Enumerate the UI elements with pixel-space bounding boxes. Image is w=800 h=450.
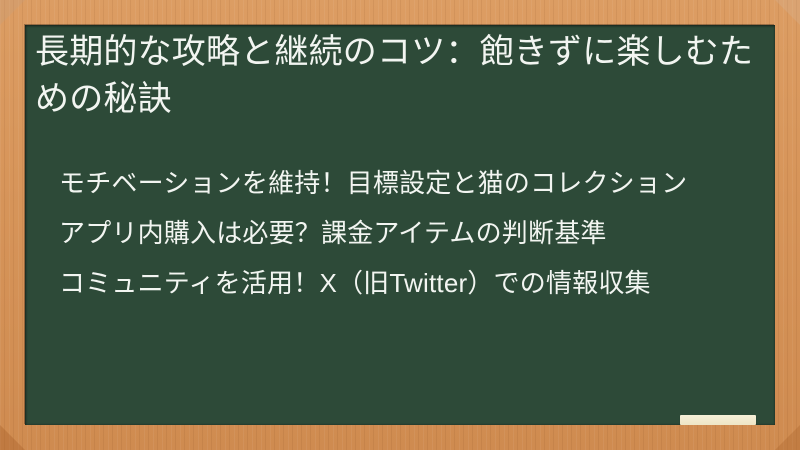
chalk-stick-icon	[680, 415, 756, 425]
frame-corner-bottom-right	[775, 425, 800, 450]
frame-corner-top-right-2	[775, 0, 800, 25]
frame-corner-top-left	[0, 0, 25, 25]
frame-corner-bottom-left-2	[0, 425, 25, 450]
chalkboard-surface: 長期的な攻略と継続のコツ：飽きずに楽しむための秘訣 モチベーションを維持！目標設…	[25, 25, 775, 425]
page-title: 長期的な攻略と継続のコツ：飽きずに楽しむための秘訣	[35, 29, 763, 123]
list-item: モチベーションを維持！目標設定と猫のコレクション	[59, 165, 759, 202]
frame-corner-bottom-right-2	[775, 425, 800, 450]
blackboard-card: 長期的な攻略と継続のコツ：飽きずに楽しむための秘訣 モチベーションを維持！目標設…	[0, 0, 800, 450]
frame-corner-top-left-2	[0, 0, 25, 25]
frame-corner-top-right	[775, 0, 800, 25]
topic-list: モチベーションを維持！目標設定と猫のコレクション アプリ内購入は必要？課金アイテ…	[59, 165, 759, 315]
frame-corner-bottom-left	[0, 425, 25, 450]
list-item: アプリ内購入は必要？課金アイテムの判断基準	[59, 215, 759, 252]
list-item: コミュニティを活用！X（旧Twitter）での情報収集	[59, 265, 759, 302]
